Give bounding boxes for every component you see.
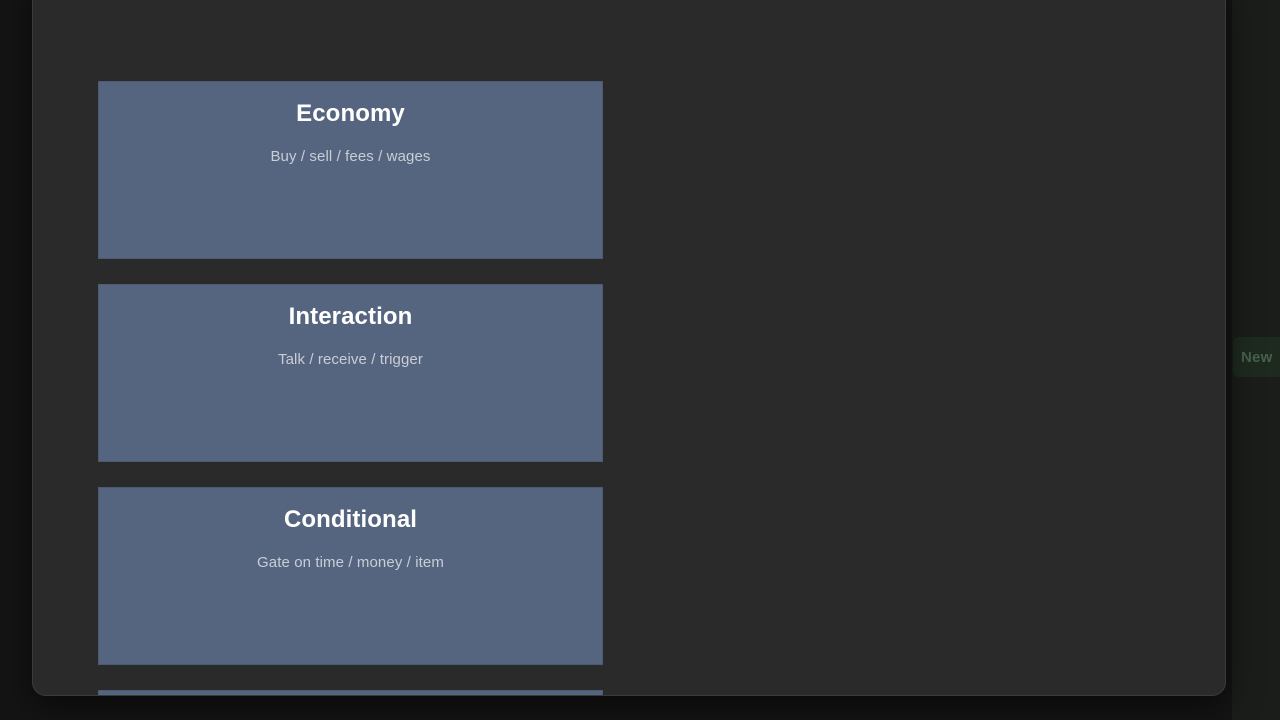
category-card-subtitle: Buy / sell / fees / wages (99, 147, 602, 167)
edge-toast-label: New (1241, 349, 1272, 366)
edge-toast-notification[interactable]: New (1233, 337, 1280, 377)
category-card-subtitle: Talk / receive / trigger (99, 350, 602, 370)
category-card-conditional[interactable]: Conditional Gate on time / money / item (98, 487, 603, 665)
category-card-title: Conditional (99, 505, 602, 535)
category-card-title: Interaction (99, 302, 602, 332)
category-card-title: Economy (99, 99, 602, 129)
category-card-chained[interactable]: Chained Multi-step confirmation flow (98, 690, 603, 695)
category-card-interaction[interactable]: Interaction Talk / receive / trigger (98, 284, 603, 462)
category-card-economy[interactable]: Economy Buy / sell / fees / wages (98, 81, 603, 259)
main-panel: Economy Buy / sell / fees / wages Intera… (32, 0, 1226, 696)
main-panel-inner: Economy Buy / sell / fees / wages Intera… (33, 0, 1225, 695)
category-card-subtitle: Gate on time / money / item (99, 553, 602, 573)
category-card-grid: Economy Buy / sell / fees / wages Intera… (98, 81, 1163, 695)
app-root: New Economy Buy / sell / fees / wages In… (0, 0, 1280, 720)
